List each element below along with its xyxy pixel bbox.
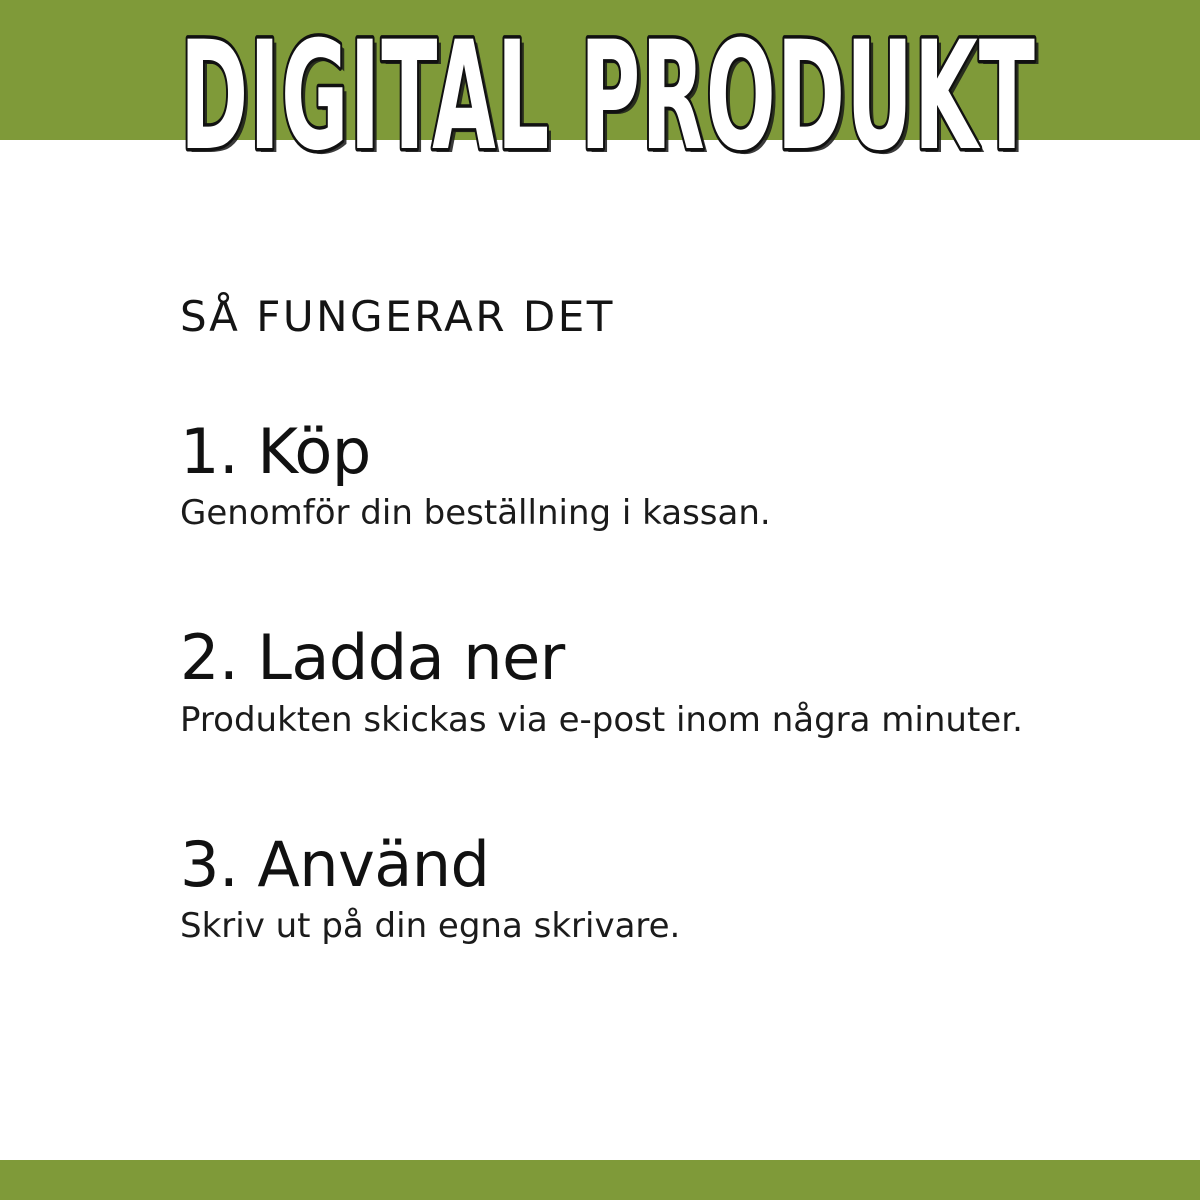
poster-canvas: DIGITAL PRODUKT DIGITAL PRODUKT SÅ FUNGE… (0, 0, 1200, 1200)
step-description: Skriv ut på din egna skrivare. (180, 906, 1080, 947)
top-green-band (0, 0, 1200, 140)
section-heading: SÅ FUNGERAR DET (180, 296, 1080, 338)
step-item: 2. Ladda ner Produkten skickas via e-pos… (180, 626, 1080, 740)
step-item: 1. Köp Genomför din beställning i kassan… (180, 420, 1080, 534)
step-title: 1. Köp (180, 420, 1080, 484)
content-area: SÅ FUNGERAR DET 1. Köp Genomför din best… (180, 296, 1080, 947)
step-title: 3. Använd (180, 833, 1080, 897)
bottom-green-band (0, 1160, 1200, 1200)
step-title: 2. Ladda ner (180, 626, 1080, 690)
step-description: Genomför din beställning i kassan. (180, 493, 1080, 534)
steps-list: 1. Köp Genomför din beställning i kassan… (180, 420, 1080, 947)
step-description: Produkten skickas via e-post inom några … (180, 700, 1080, 741)
step-item: 3. Använd Skriv ut på din egna skrivare. (180, 833, 1080, 947)
